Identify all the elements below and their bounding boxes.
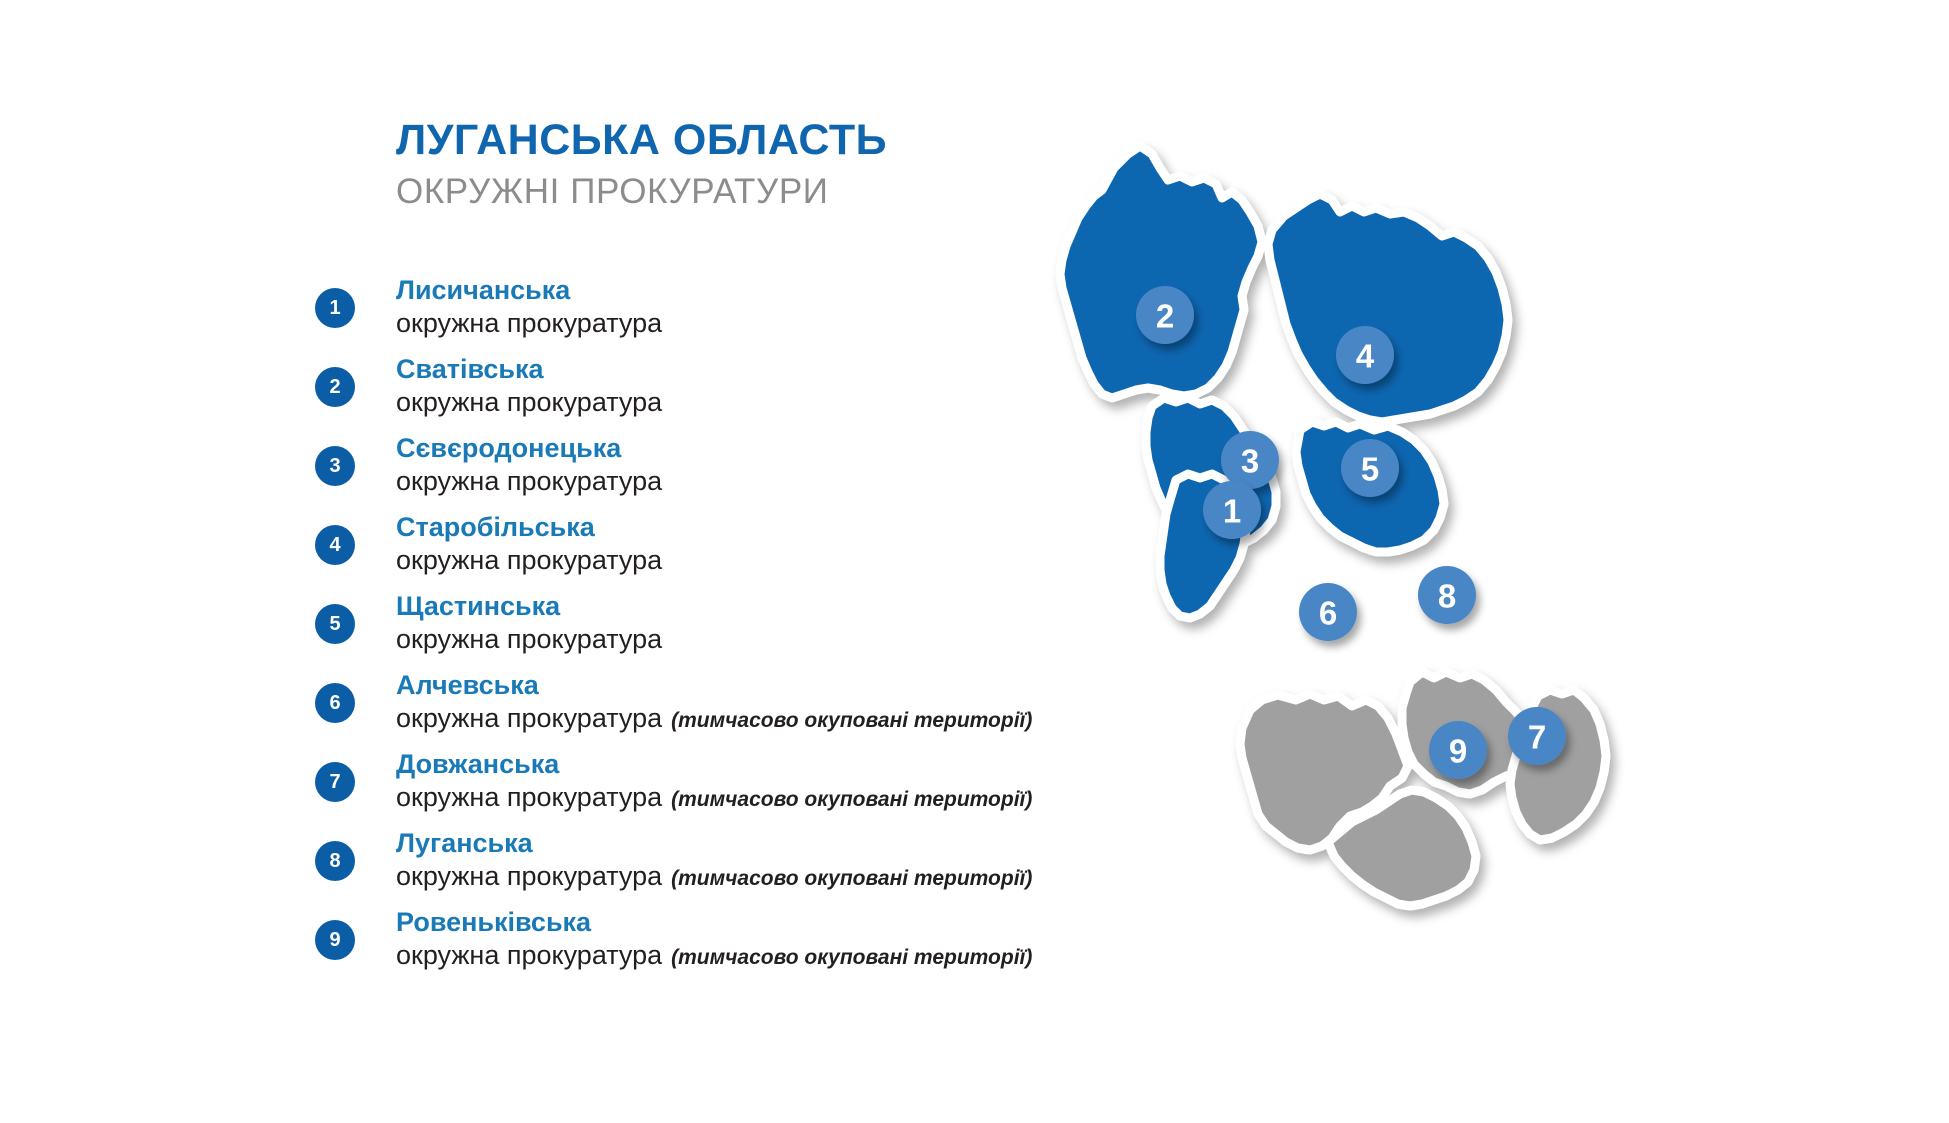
legend-name-9: Ровеньківська xyxy=(396,907,1105,939)
legend-item-7[interactable]: 7 Довжанська окружна прокуратура(тимчасо… xyxy=(315,749,1105,827)
legend-desc-line-7: окружна прокуратура(тимчасово окуповані … xyxy=(396,782,1105,814)
map-region-starobilska[interactable] xyxy=(1268,194,1508,422)
map-marker-9[interactable]: 9 xyxy=(1429,721,1487,779)
legend-texts-7: Довжанська окружна прокуратура(тимчасово… xyxy=(396,749,1105,814)
legend-badge-9: 9 xyxy=(315,920,355,960)
legend-item-8[interactable]: 8 Луганська окружна прокуратура(тимчасов… xyxy=(315,828,1105,906)
legend-desc-line-4: окружна прокуратура xyxy=(396,545,1105,577)
legend-desc-line-2: окружна прокуратура xyxy=(396,387,1105,419)
map-marker-label-2: 2 xyxy=(1156,298,1174,335)
legend-desc-line-8: окружна прокуратура(тимчасово окуповані … xyxy=(396,861,1105,893)
map-container: 2 4 3 5 1 6 8 xyxy=(1010,50,1810,1060)
legend-badge-1: 1 xyxy=(315,288,355,328)
page-title: ЛУГАНСЬКА ОБЛАСТЬ xyxy=(396,118,1056,163)
legend-badge-4: 4 xyxy=(315,525,355,565)
legend-name-5: Щастинська xyxy=(396,591,1105,623)
legend-desc-line-9: окружна прокуратура(тимчасово окуповані … xyxy=(396,940,1105,972)
legend-desc-7: окружна прокуратура xyxy=(396,782,662,812)
map-marker-label-3: 3 xyxy=(1241,443,1259,480)
map-marker-6[interactable]: 6 xyxy=(1299,583,1357,641)
legend-texts-6: Алчевська окружна прокуратура(тимчасово … xyxy=(396,670,1105,735)
map-marker-label-9: 9 xyxy=(1449,733,1467,770)
legend-desc-line-6: окружна прокуратура(тимчасово окуповані … xyxy=(396,703,1105,735)
title-block: ЛУГАНСЬКА ОБЛАСТЬ ОКРУЖНІ ПРОКУРАТУРИ xyxy=(396,118,1056,212)
map-marker-3[interactable]: 3 xyxy=(1221,431,1279,489)
legend-desc-5: окружна прокуратура xyxy=(396,624,662,654)
luhansk-oblast-map[interactable]: 2 4 3 5 1 6 8 xyxy=(1010,50,1810,1060)
legend-desc-2: окружна прокуратура xyxy=(396,387,662,417)
legend-badge-2: 2 xyxy=(315,367,355,407)
legend-desc-3: окружна прокуратура xyxy=(396,466,662,496)
legend-texts-3: Сєвєродонецька окружна прокуратура xyxy=(396,433,1105,498)
map-region-svativska[interactable] xyxy=(1060,146,1262,398)
legend-note-6: (тимчасово окуповані території) xyxy=(671,709,1032,732)
legend-item-1[interactable]: 1 Лисичанська окружна прокуратура xyxy=(315,275,1105,353)
map-active-group xyxy=(1060,146,1508,618)
legend-item-6[interactable]: 6 Алчевська окружна прокуратура(тимчасов… xyxy=(315,670,1105,748)
map-marker-2[interactable]: 2 xyxy=(1136,286,1194,344)
legend-note-8: (тимчасово окуповані території) xyxy=(671,867,1032,890)
legend-name-6: Алчевська xyxy=(396,670,1105,702)
legend-note-9: (тимчасово окуповані території) xyxy=(671,946,1032,969)
legend-list: 1 Лисичанська окружна прокуратура 2 Сват… xyxy=(315,275,1105,986)
map-occupied-group xyxy=(1240,672,1606,906)
legend-badge-3: 3 xyxy=(315,446,355,486)
legend-name-1: Лисичанська xyxy=(396,275,1105,307)
legend-desc-8: окружна прокуратура xyxy=(396,861,662,891)
legend-item-3[interactable]: 3 Сєвєродонецька окружна прокуратура xyxy=(315,433,1105,511)
map-marker-label-6: 6 xyxy=(1319,595,1337,632)
map-marker-label-5: 5 xyxy=(1361,451,1379,488)
legend-item-9[interactable]: 9 Ровеньківська окружна прокуратура(тимч… xyxy=(315,907,1105,985)
legend-texts-8: Луганська окружна прокуратура(тимчасово … xyxy=(396,828,1105,893)
legend-desc-line-1: окружна прокуратура xyxy=(396,308,1105,340)
map-marker-label-7: 7 xyxy=(1528,719,1546,756)
legend-desc-line-3: окружна прокуратура xyxy=(396,466,1105,498)
map-marker-label-4: 4 xyxy=(1356,338,1375,375)
legend-name-2: Сватівська xyxy=(396,354,1105,386)
legend-name-7: Довжанська xyxy=(396,749,1105,781)
legend-texts-5: Щастинська окружна прокуратура xyxy=(396,591,1105,656)
legend-badge-6: 6 xyxy=(315,683,355,723)
map-marker-label-8: 8 xyxy=(1438,578,1456,615)
map-marker-4[interactable]: 4 xyxy=(1336,326,1394,384)
legend-texts-4: Старобільська окружна прокуратура xyxy=(396,512,1105,577)
legend-item-4[interactable]: 4 Старобільська окружна прокуратура xyxy=(315,512,1105,590)
legend-badge-8: 8 xyxy=(315,841,355,881)
legend-desc-6: окружна прокуратура xyxy=(396,703,662,733)
page-subtitle: ОКРУЖНІ ПРОКУРАТУРИ xyxy=(396,172,1056,212)
legend-panel: ЛУГАНСЬКА ОБЛАСТЬ ОКРУЖНІ ПРОКУРАТУРИ 1 … xyxy=(0,0,1100,1123)
legend-texts-2: Сватівська окружна прокуратура xyxy=(396,354,1105,419)
legend-texts-1: Лисичанська окружна прокуратура xyxy=(396,275,1105,340)
legend-desc-1: окружна прокуратура xyxy=(396,308,662,338)
legend-name-8: Луганська xyxy=(396,828,1105,860)
legend-badge-5: 5 xyxy=(315,604,355,644)
legend-note-7: (тимчасово окуповані території) xyxy=(671,788,1032,811)
legend-desc-line-5: окружна прокуратура xyxy=(396,624,1105,656)
legend-desc-4: окружна прокуратура xyxy=(396,545,662,575)
map-marker-7[interactable]: 7 xyxy=(1508,707,1566,765)
legend-texts-9: Ровеньківська окружна прокуратура(тимчас… xyxy=(396,907,1105,972)
map-marker-label-1: 1 xyxy=(1223,493,1241,530)
legend-item-5[interactable]: 5 Щастинська окружна прокуратура xyxy=(315,591,1105,669)
legend-name-3: Сєвєродонецька xyxy=(396,433,1105,465)
legend-name-4: Старобільська xyxy=(396,512,1105,544)
legend-item-2[interactable]: 2 Сватівська окружна прокуратура xyxy=(315,354,1105,432)
map-marker-8[interactable]: 8 xyxy=(1418,566,1476,624)
map-marker-1[interactable]: 1 xyxy=(1203,481,1261,539)
legend-desc-9: окружна прокуратура xyxy=(396,940,662,970)
legend-badge-7: 7 xyxy=(315,762,355,802)
map-marker-5[interactable]: 5 xyxy=(1341,439,1399,497)
